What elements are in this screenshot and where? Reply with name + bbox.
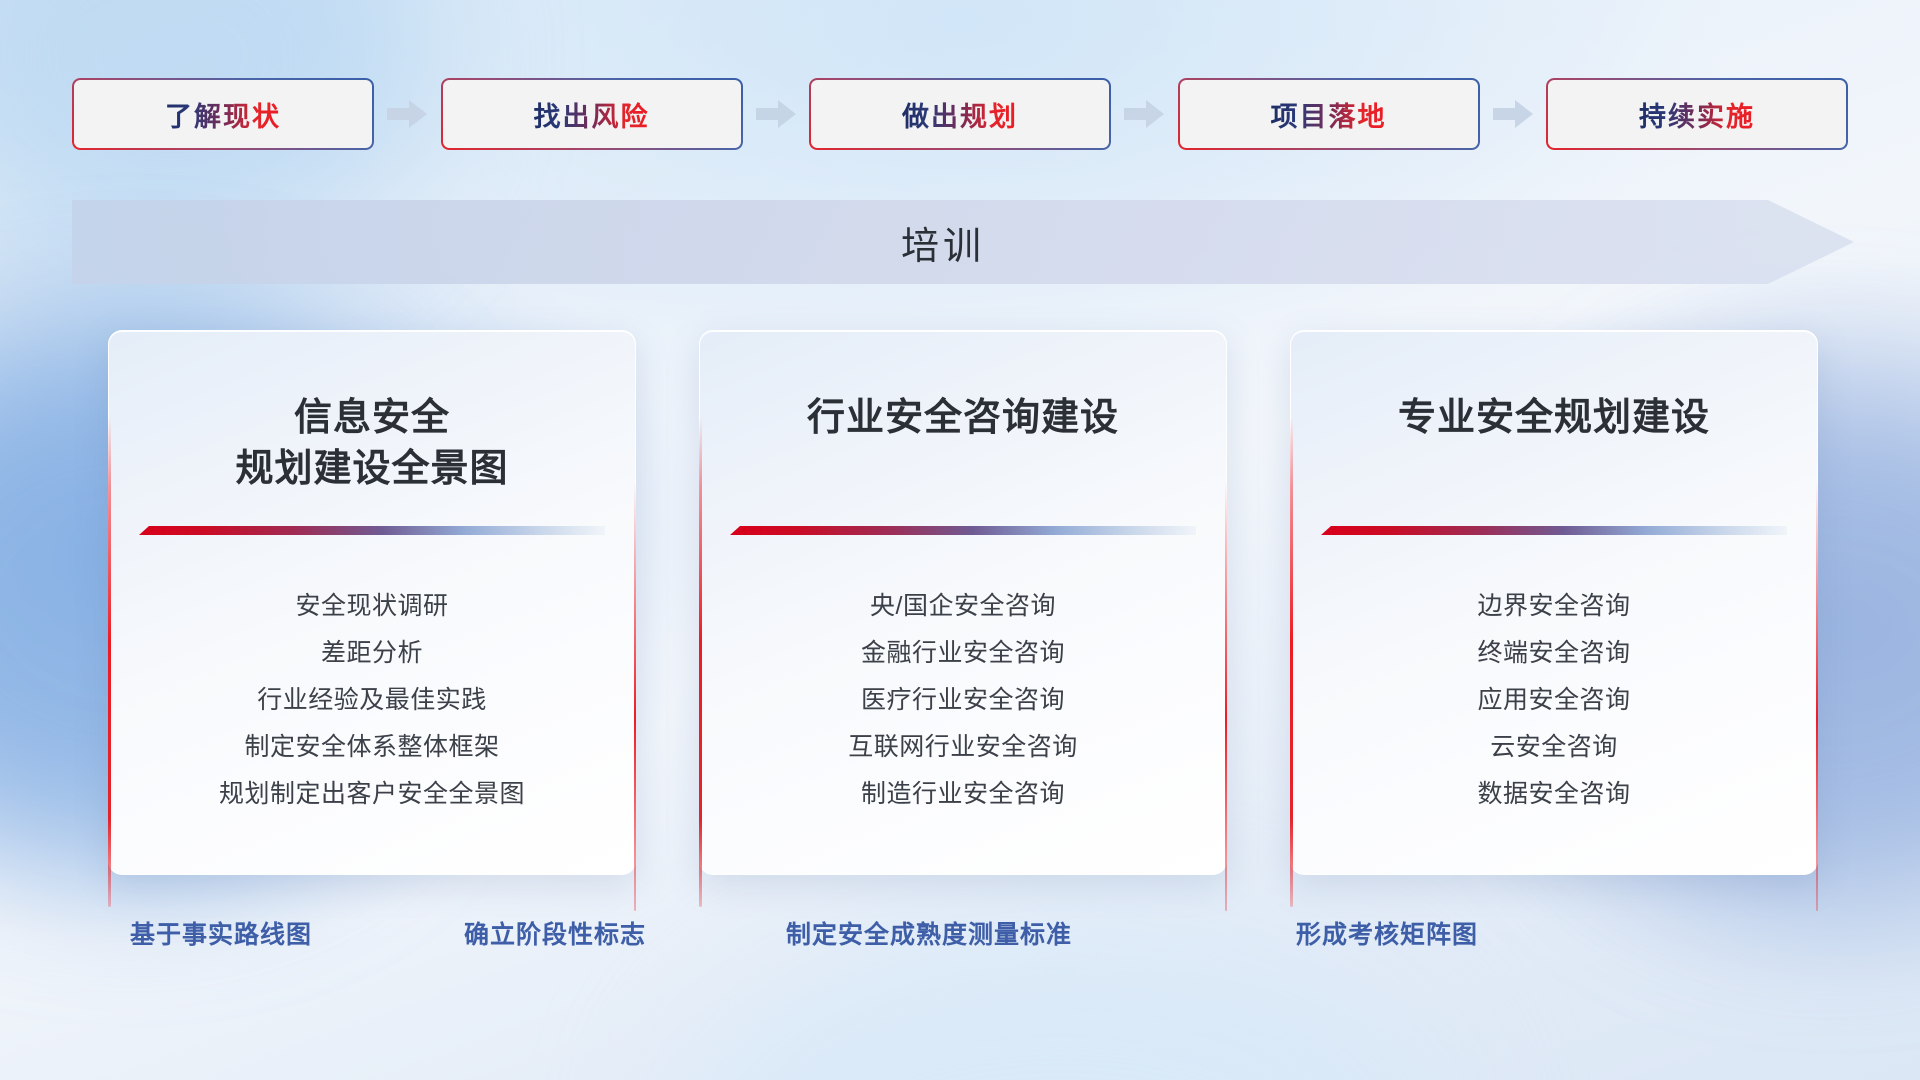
step-chip-3[interactable]: 做出规划 — [809, 78, 1111, 150]
card-item-list: 安全现状调研 差距分析 行业经验及最佳实践 制定安全体系整体框架 规划制定出客户… — [109, 583, 635, 818]
step-chip-label: 找出风险 — [534, 95, 650, 134]
step-chip-1[interactable]: 了解现状 — [72, 78, 374, 150]
footer-label-row: 基于事实路线图 确立阶段性标志 制定安全成熟度测量标准 形成考核矩阵图 — [0, 915, 1920, 955]
capability-card-row: 信息安全 规划建设全景图 安全现状调研 差距分析 行业经验及最佳实践 制定安全体… — [108, 330, 1818, 875]
step-chip-4[interactable]: 项目落地 — [1178, 78, 1480, 150]
list-item: 制定安全体系整体框架 — [109, 724, 635, 771]
list-item: 应用安全咨询 — [1291, 677, 1817, 724]
list-item: 差距分析 — [109, 630, 635, 677]
step-chip-label: 项目落地 — [1271, 95, 1387, 134]
arrow-right-icon — [1124, 98, 1164, 130]
capability-card[interactable]: 专业安全规划建设 边界安全咨询 终端安全咨询 应用安全咨询 云安全咨询 数据安全… — [1290, 330, 1818, 875]
slide-canvas: 了解现状 找出风险 做出规划 项目落地 持续实施 培训 — [0, 0, 1920, 1080]
banner-label: 培训 — [72, 200, 1854, 284]
card-divider — [1321, 526, 1787, 535]
list-item: 金融行业安全咨询 — [700, 630, 1226, 677]
list-item: 数据安全咨询 — [1291, 771, 1817, 818]
arrow-right-icon — [756, 98, 796, 130]
card-divider — [730, 526, 1196, 535]
list-item: 行业经验及最佳实践 — [109, 677, 635, 724]
list-item: 规划制定出客户安全全景图 — [109, 771, 635, 818]
process-step-row: 了解现状 找出风险 做出规划 项目落地 持续实施 — [72, 78, 1848, 150]
card-item-list: 央/国企安全咨询 金融行业安全咨询 医疗行业安全咨询 互联网行业安全咨询 制造行… — [700, 583, 1226, 818]
card-title: 专业安全规划建设 — [1291, 393, 1817, 444]
step-chip-5[interactable]: 持续实施 — [1546, 78, 1848, 150]
footer-label: 制定安全成熟度测量标准 — [786, 915, 1072, 951]
card-item-list: 边界安全咨询 终端安全咨询 应用安全咨询 云安全咨询 数据安全咨询 — [1291, 583, 1817, 818]
list-item: 安全现状调研 — [109, 583, 635, 630]
step-chip-label: 做出规划 — [902, 95, 1018, 134]
list-item: 终端安全咨询 — [1291, 630, 1817, 677]
card-title: 信息安全 规划建设全景图 — [109, 393, 635, 496]
list-item: 医疗行业安全咨询 — [700, 677, 1226, 724]
step-chip-2[interactable]: 找出风险 — [441, 78, 743, 150]
card-title: 行业安全咨询建设 — [700, 393, 1226, 444]
step-chip-label: 了解现状 — [165, 95, 281, 134]
list-item: 制造行业安全咨询 — [700, 771, 1226, 818]
footer-label: 形成考核矩阵图 — [1296, 915, 1478, 951]
arrow-right-icon — [387, 98, 427, 130]
capability-card[interactable]: 行业安全咨询建设 央/国企安全咨询 金融行业安全咨询 医疗行业安全咨询 互联网行… — [699, 330, 1227, 875]
list-item: 央/国企安全咨询 — [700, 583, 1226, 630]
footer-label: 确立阶段性标志 — [464, 915, 646, 951]
step-chip-label: 持续实施 — [1639, 95, 1755, 134]
training-banner: 培训 — [72, 200, 1854, 284]
list-item: 云安全咨询 — [1291, 724, 1817, 771]
capability-card[interactable]: 信息安全 规划建设全景图 安全现状调研 差距分析 行业经验及最佳实践 制定安全体… — [108, 330, 636, 875]
list-item: 互联网行业安全咨询 — [700, 724, 1226, 771]
footer-label: 基于事实路线图 — [130, 915, 312, 951]
list-item: 边界安全咨询 — [1291, 583, 1817, 630]
arrow-right-icon — [1493, 98, 1533, 130]
card-divider — [139, 526, 605, 535]
